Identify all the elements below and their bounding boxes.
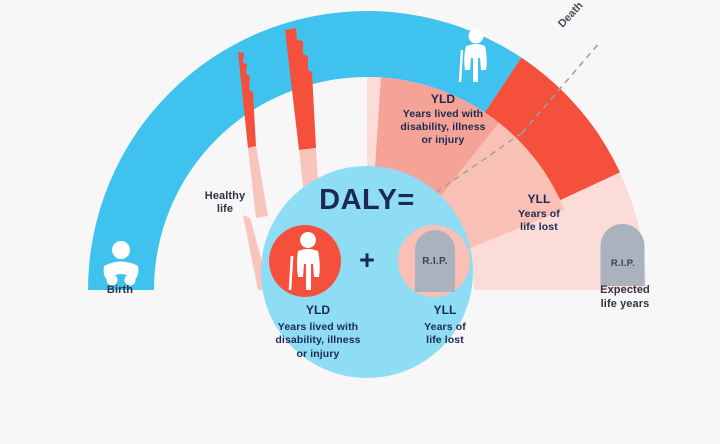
rip-inscription-right: R.I.P. xyxy=(593,258,653,269)
yld-center-desc1: Years lived with xyxy=(278,321,358,333)
yll-arc-desc1: Years of xyxy=(518,208,560,220)
daly-arc-diagram xyxy=(0,0,720,444)
yld-center-desc2: disability, illness xyxy=(275,334,360,346)
yll-center-heading: YLL xyxy=(392,303,498,319)
gravestone-icon-right xyxy=(601,224,645,286)
healthy-life-line2: life xyxy=(217,203,233,215)
yll-arc-heading: YLL xyxy=(484,192,594,207)
yld-arc-desc2: disability, illness xyxy=(400,121,485,133)
yll-center-desc2: life lost xyxy=(426,334,464,346)
expected-life-years-label: Expected life years xyxy=(565,284,685,312)
daly-equation-title: DALY= xyxy=(297,183,437,217)
daly-infographic: Healthy life Birth Expected life years Y… xyxy=(0,0,720,444)
yld-arc-heading: YLD xyxy=(378,92,508,107)
healthy-life-label: Healthy life xyxy=(170,190,280,216)
yld-arc-label: YLD Years lived with disability, illness… xyxy=(378,92,508,147)
yld-center-label: YLD Years lived with disability, illness… xyxy=(238,303,398,362)
expected-line2: life years xyxy=(601,298,650,310)
yld-arc-desc1: Years lived with xyxy=(403,108,483,120)
yld-center-heading: YLD xyxy=(238,303,398,319)
birth-label: Birth xyxy=(65,284,175,297)
healthy-life-line1: Healthy xyxy=(205,190,245,202)
yll-arc-desc2: life lost xyxy=(520,221,558,233)
yld-arc-desc3: or injury xyxy=(422,134,465,146)
rip-inscription-center: R.I.P. xyxy=(405,256,465,267)
yll-center-label: YLL Years of life lost xyxy=(392,303,498,348)
yll-center-desc1: Years of xyxy=(424,321,466,333)
yld-center-desc3: or injury xyxy=(297,348,340,360)
plus-sign: + xyxy=(349,245,385,277)
yll-arc-label: YLL Years of life lost xyxy=(484,192,594,234)
expected-line1: Expected xyxy=(600,284,650,296)
